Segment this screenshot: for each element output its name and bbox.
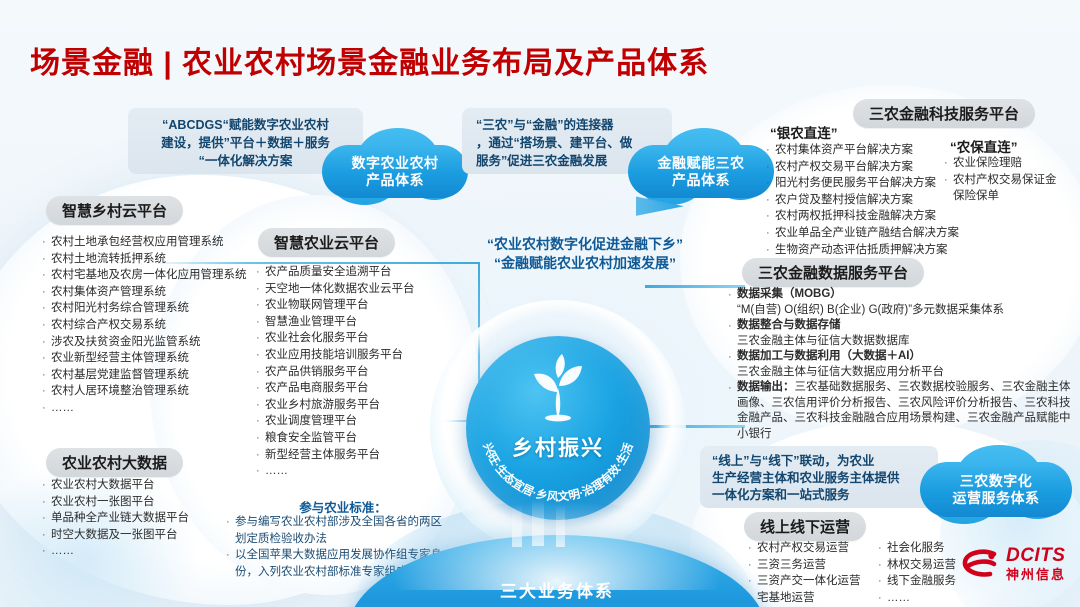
list-smart-village: ·农村土地承包经营权应用管理系统·农村土地流转抵押系统·农村宅基地及农房一体化应…	[42, 234, 257, 417]
list-item-label: 农村集体资产平台解决方案	[775, 142, 966, 159]
list-item-bank-direct: ·阳光村务便民服务平台解决方案	[766, 175, 966, 192]
list-big-data: ·农业农村大数据平台·农业农村一张图平台·单品种全产业链大数据平台·时空大数据及…	[42, 477, 242, 560]
bottom-band-label: 三大业务体系	[348, 577, 766, 602]
bullet-icon: ·	[878, 540, 887, 557]
logo-en: DCITS	[1006, 546, 1066, 565]
bullet-icon: ·	[748, 540, 757, 557]
list-item-smart-agri: ·农业物联网管理平台	[256, 297, 461, 314]
list-item-label: 阳光村务便民服务平台解决方案	[775, 175, 966, 192]
center-arc-text: 产业兴旺·生态宜居·乡风文明·治理有效·生活富裕	[466, 336, 650, 520]
list-item-bank-direct: ·农户贷及整村授信解决方案	[766, 192, 966, 209]
bullet-icon: ·	[42, 383, 51, 400]
list-item-big-data: ·……	[42, 543, 242, 560]
list-item-smart-village: ·农村宅基地及农房一体化应用管理系统	[42, 267, 257, 284]
list-item-bank-direct: ·农村集体资产平台解决方案	[766, 142, 966, 159]
band-stripe-1	[512, 505, 522, 547]
list-smart-agri: ·农产品质量安全追溯平台·天空地一体化数据农业云平台·农业物联网管理平台·智慧渔…	[256, 264, 461, 480]
bullet-icon: ·	[42, 234, 51, 251]
list-item-smart-village: ·农村土地承包经营权应用管理系统	[42, 234, 257, 251]
list-item-label: 三资产交一体化运营	[757, 573, 888, 590]
list-item-label: 农业物联网管理平台	[265, 297, 461, 314]
list-data-service: ·数据采集（MOBG）“M(自营) O(组织) B(企业) G(政府)”多元数据…	[728, 287, 1073, 442]
bullet-icon: ·	[256, 330, 265, 347]
bullet-icon: ·	[878, 557, 887, 574]
list-item-label: 农业保险理赔	[953, 155, 1064, 172]
list-item-operations: ·宅基地运营	[748, 590, 888, 607]
list-item-smart-agri: ·农业应用技能培训服务平台	[256, 347, 461, 364]
cloud-digital-operations: 三农数字化 运营服务体系	[920, 443, 1072, 531]
bullet-icon: ·	[42, 334, 51, 351]
list-item-label: 农村产权交易平台解决方案	[775, 159, 966, 176]
bullet-icon: ·	[256, 430, 265, 447]
list-item-label: 农村两权抵押科技金融解决方案	[775, 208, 966, 225]
list-item-smart-village: ·农村土地流转抵押系统	[42, 251, 257, 268]
list-item-smart-agri: ·农产品供销服务平台	[256, 364, 461, 381]
list-item-title: 数据输出：	[737, 381, 795, 393]
bullet-icon: ·	[944, 172, 953, 189]
list-item-operations: ·……	[878, 590, 998, 607]
bullet-icon: ·	[226, 547, 235, 564]
bullet-icon: ·	[42, 300, 51, 317]
bullet-icon: ·	[766, 242, 775, 259]
list-item-smart-agri: ·新型经营主体服务平台	[256, 447, 461, 464]
list-item-label: 农村阳光村务综合管理系统	[51, 300, 257, 317]
list-item-label: 农业农村大数据平台	[51, 477, 242, 494]
bullet-icon: ·	[256, 397, 265, 414]
heading-smart-village: 智慧乡村云平台	[46, 196, 183, 225]
bullet-icon: ·	[256, 264, 265, 281]
list-item-data-service: ·数据输出：三农基础数据服务、三农数据校验服务、三农金融主体画像、三农信用评价分…	[728, 380, 1073, 442]
cloud-digital-agriculture: 数字农业农村 产品体系	[322, 126, 468, 212]
heading-operations: 线上线下运营	[744, 512, 866, 541]
page-title: 场景金融 | 农业农村场景金融业务布局及产品体系	[30, 38, 709, 82]
list-item-data-service: ·数据采集（MOBG）“M(自营) O(组织) B(企业) G(政府)”多元数据…	[728, 287, 1073, 318]
list-item-smart-village: ·农村综合产权交易系统	[42, 317, 257, 334]
list-item-label: 农村基层党建监督管理系统	[51, 367, 257, 384]
list-item-label: 数据加工与数据利用（大数据＋AI）三农金融主体与征信大数据应用分析平台	[737, 349, 1073, 380]
list-item-big-data: ·农业农村一张图平台	[42, 494, 242, 511]
list-item-label: 参与编写农业农村部涉及全国各省的两区划定质检验收办法	[235, 514, 451, 547]
cloud-digital-agriculture-label: 数字农业农村 产品体系	[322, 126, 468, 212]
heading-fintech: 三农金融科技服务平台	[853, 99, 1035, 128]
bullet-icon: ·	[748, 557, 757, 574]
bullet-icon: ·	[256, 364, 265, 381]
list-item-detail: 三农金融主体与征信大数据数据库	[737, 334, 1073, 350]
list-item-detail: “M(自营) O(组织) B(企业) G(政府)”多元数据采集体系	[737, 303, 1073, 319]
list-item-label: 农村人居环境整治管理系统	[51, 383, 257, 400]
list-item-label: 农业新型经营主体管理系统	[51, 350, 257, 367]
bullet-icon: ·	[728, 349, 737, 366]
list-item-label: 农产品电商服务平台	[265, 380, 461, 397]
heading-smart-agri: 智慧农业云平台	[258, 228, 395, 257]
cloud-digital-operations-label: 三农数字化 运营服务体系	[920, 443, 1072, 531]
bullet-icon: ·	[728, 318, 737, 335]
list-item-data-service: ·数据整合与数据存储三农金融主体与征信大数据数据库	[728, 318, 1073, 349]
bullet-icon: ·	[42, 284, 51, 301]
bullet-icon: ·	[42, 543, 51, 560]
list-item-label: 农业应用技能培训服务平台	[265, 347, 461, 364]
bullet-icon: ·	[256, 314, 265, 331]
brand-logo: DCITS 神州信息	[960, 546, 1066, 581]
list-item-title: 数据整合与数据存储	[737, 319, 841, 331]
list-item-label: 智慧渔业管理平台	[265, 314, 461, 331]
list-item-bank-direct: ·农村产权交易平台解决方案	[766, 159, 966, 176]
list-item-label: 数据输出：三农基础数据服务、三农数据校验服务、三农金融主体画像、三农信用评价分析…	[737, 380, 1073, 442]
list-item-label: 生物资产动态评估抵质押解决方案	[775, 242, 966, 259]
bullet-icon: ·	[226, 514, 235, 531]
list-item-label: 农村土地承包经营权应用管理系统	[51, 234, 257, 251]
list-item-smart-agri: ·农业社会化服务平台	[256, 330, 461, 347]
list-item-smart-village: ·农业新型经营主体管理系统	[42, 350, 257, 367]
bullet-icon: ·	[42, 350, 51, 367]
note-bottom-right-text: “线上”与“线下”联动，为农业 生产经营主体和农业服务主体提供 一体化方案和一站…	[712, 453, 926, 504]
subheading-insurance-direct: “农保直连”	[950, 136, 1018, 156]
list-item-label: 农业单品全产业链产融结合解决方案	[775, 225, 966, 242]
list-item-label: 数据采集（MOBG）“M(自营) O(组织) B(企业) G(政府)”多元数据采…	[737, 287, 1073, 318]
list-item-label: ……	[51, 400, 257, 417]
list-item-smart-agri: ·农产品质量安全追溯平台	[256, 264, 461, 281]
list-item-big-data: ·时空大数据及一张图平台	[42, 527, 242, 544]
list-item-data-service: ·数据加工与数据利用（大数据＋AI）三农金融主体与征信大数据应用分析平台	[728, 349, 1073, 380]
list-insurance-direct: ·农业保险理赔·农村产权交易保证金保险保单	[944, 155, 1064, 205]
list-item-label: 农村综合产权交易系统	[51, 317, 257, 334]
list-item-bank-direct: ·生物资产动态评估抵质押解决方案	[766, 242, 966, 259]
list-item-label: 农产品供销服务平台	[265, 364, 461, 381]
list-item-smart-agri: ·天空地一体化数据农业云平台	[256, 281, 461, 298]
list-item-label: 农村集体资产管理系统	[51, 284, 257, 301]
list-item-label: 宅基地运营	[757, 590, 888, 607]
list-item-detail: 三农金融主体与征信大数据应用分析平台	[737, 365, 1073, 381]
list-item-label: 农户贷及整村授信解决方案	[775, 192, 966, 209]
list-item-label: 农业社会化服务平台	[265, 330, 461, 347]
list-item-title: 数据采集（MOBG）	[737, 288, 842, 300]
list-item-smart-agri: ·智慧渔业管理平台	[256, 314, 461, 331]
list-item-label: 农村土地流转抵押系统	[51, 251, 257, 268]
band-stripe-3	[556, 505, 565, 547]
list-item-smart-village: ·农村人居环境整治管理系统	[42, 383, 257, 400]
list-item-insurance-direct: ·农村产权交易保证金保险保单	[944, 172, 1064, 205]
list-item-label: 农村宅基地及农房一体化应用管理系统	[51, 267, 257, 284]
bullet-icon: ·	[42, 527, 51, 544]
list-item-label: 农村产权交易保证金保险保单	[953, 172, 1064, 205]
bullet-icon: ·	[728, 380, 737, 397]
list-item-label: 涉农及扶贫资金阳光监管系统	[51, 334, 257, 351]
bullet-icon: ·	[256, 413, 265, 430]
bullet-icon: ·	[256, 380, 265, 397]
list-item-insurance-direct: ·农业保险理赔	[944, 155, 1064, 172]
bullet-icon: ·	[42, 317, 51, 334]
bullet-icon: ·	[256, 297, 265, 314]
dcits-logo-icon	[960, 547, 1000, 581]
list-item-smart-village: ·农村集体资产管理系统	[42, 284, 257, 301]
list-item-label: 农业农村一张图平台	[51, 494, 242, 511]
list-item-label: 天空地一体化数据农业云平台	[265, 281, 461, 298]
note-bottom-right: “线上”与“线下”联动，为农业 生产经营主体和农业服务主体提供 一体化方案和一站…	[700, 446, 938, 508]
bullet-icon: ·	[944, 155, 953, 172]
cloud-finance-empower: 金融赋能三农 产品体系	[628, 126, 774, 212]
bullet-icon: ·	[42, 251, 51, 268]
cloud-finance-empower-label: 金融赋能三农 产品体系	[628, 126, 774, 212]
bullet-icon: ·	[256, 463, 265, 480]
list-item-label: 数据整合与数据存储三农金融主体与征信大数据数据库	[737, 318, 1073, 349]
list-item-label: 三资三务运营	[757, 557, 888, 574]
bullet-icon: ·	[256, 347, 265, 364]
list-item-operations: ·三资三务运营	[748, 557, 888, 574]
bullet-icon: ·	[42, 267, 51, 284]
list-item-operations: ·农村产权交易运营	[748, 540, 888, 557]
bullet-icon: ·	[256, 281, 265, 298]
list-item-big-data: ·单品种全产业链大数据平台	[42, 510, 242, 527]
list-item-bank-direct: ·农村两权抵押科技金融解决方案	[766, 208, 966, 225]
bullet-icon: ·	[42, 367, 51, 384]
bullet-icon: ·	[42, 477, 51, 494]
logo-cn: 神州信息	[1006, 568, 1066, 581]
bullet-icon: ·	[256, 447, 265, 464]
list-item-label: 农村产权交易运营	[757, 540, 888, 557]
list-item-smart-agri: ·农产品电商服务平台	[256, 380, 461, 397]
heading-big-data: 农业农村大数据	[46, 448, 183, 477]
list-item-label: ……	[887, 590, 998, 607]
subheading-bank-direct: “银农直连”	[770, 122, 838, 142]
list-item-operations: ·三资产交一体化运营	[748, 573, 888, 590]
center-core: 乡村振兴 产业兴旺·生态宜居·乡风文明·治理有效·生活富裕	[466, 336, 650, 520]
heading-data-service: 三农金融数据服务平台	[742, 258, 924, 287]
list-item-bank-direct: ·农业单品全产业链产融结合解决方案	[766, 225, 966, 242]
list-item-label: 时空大数据及一张图平台	[51, 527, 242, 544]
bullet-icon: ·	[42, 494, 51, 511]
note-left-text: “ABCDGS“赋能数字农业农村 建设，提供”平台＋数据＋服务 “一体化解决方案	[142, 116, 349, 170]
list-item-smart-village: ·……	[42, 400, 257, 417]
list-item-label: 农产品质量安全追溯平台	[265, 264, 461, 281]
svg-text:产业兴旺·生态宜居·乡风文明·治理有效·生活富裕: 产业兴旺·生态宜居·乡风文明·治理有效·生活富裕	[459, 325, 636, 504]
bullet-icon: ·	[42, 400, 51, 417]
list-item-title: 数据加工与数据利用（大数据＋AI）	[737, 350, 921, 362]
list-bank-direct: ·农村集体资产平台解决方案·农村产权交易平台解决方案·阳光村务便民服务平台解决方…	[766, 142, 966, 275]
bullet-icon: ·	[42, 510, 51, 527]
bullet-icon: ·	[878, 590, 887, 607]
center-slogan: “农业农村数字化促进金融下乡” “金融赋能农业农村加速发展”	[440, 216, 730, 273]
list-item-smart-village: ·农村基层党建监督管理系统	[42, 367, 257, 384]
list-item-smart-agri: ·……	[256, 463, 461, 480]
list-item-smart-village: ·涉农及扶贫资金阳光监管系统	[42, 334, 257, 351]
bullet-icon: ·	[878, 573, 887, 590]
list-item-big-data: ·农业农村大数据平台	[42, 477, 242, 494]
bullet-icon: ·	[728, 287, 737, 304]
infographic-canvas: 场景金融 | 农业农村场景金融业务布局及产品体系 “ABCDGS“赋能数字农业农…	[0, 0, 1080, 607]
list-operations-col1: ·农村产权交易运营·三资三务运营·三资产交一体化运营·宅基地运营	[748, 540, 888, 606]
list-item-standard: ·参与编写农业农村部涉及全国各省的两区划定质检验收办法	[226, 514, 451, 547]
list-item-smart-village: ·农村阳光村务综合管理系统	[42, 300, 257, 317]
list-item-label: ……	[265, 463, 461, 480]
band-stripe-2	[532, 498, 544, 546]
bullet-icon: ·	[766, 225, 775, 242]
list-item-label: ……	[51, 543, 242, 560]
list-item-label: 单品种全产业链大数据平台	[51, 510, 242, 527]
